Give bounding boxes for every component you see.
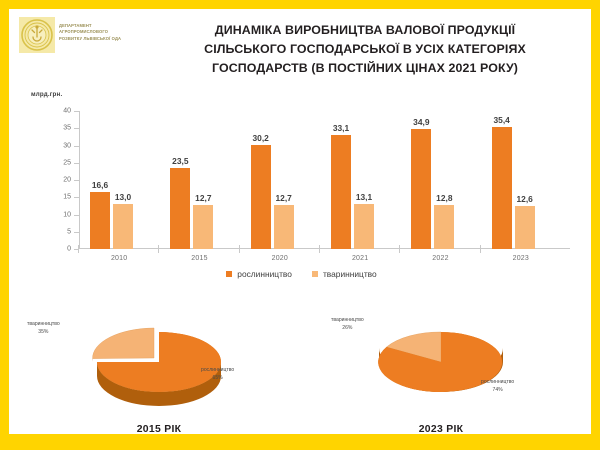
bar-value-label: 12,7 xyxy=(195,193,211,203)
bar-group-2015: 23,512,72015 xyxy=(159,111,239,249)
pie-chart-2023: тваринництво 26% рослинництво 74% 2023 Р… xyxy=(301,305,581,435)
pie-2015-graphic xyxy=(19,305,299,417)
bar-2020-roslynnytstvo[interactable]: 30,2 xyxy=(251,145,271,249)
pie-2023-label-roslynnytstvo-value: 74% xyxy=(481,387,514,395)
y-tick-label: 30 xyxy=(49,142,76,149)
bar-2022-tvarynnytstvo[interactable]: 12,8 xyxy=(434,205,454,249)
bar-2023-tvarynnytstvo[interactable]: 12,6 xyxy=(515,206,535,249)
pie-chart-2015: тваринництво 35% рослинництво 65% 2015 Р… xyxy=(19,305,299,435)
bar-2015-tvarynnytstvo[interactable]: 12,7 xyxy=(193,205,213,249)
organization-logo: ДЕПАРТАМЕНТ АГРОПРОМИСЛОВОГО РОЗВИТКУ ЛЬ… xyxy=(19,15,147,57)
bar-value-label: 30,2 xyxy=(253,133,269,143)
bar-value-label: 13,0 xyxy=(115,192,131,202)
bar-chart-legend: рослинництвотваринництво xyxy=(29,269,574,279)
x-axis-label-2021: 2021 xyxy=(320,255,400,262)
bar-2023-roslynnytstvo[interactable]: 35,4 xyxy=(492,127,512,249)
title-line-3: ГОСПОДАРСТВ (В ПОСТІЙНИХ ЦІНАХ 2021 РОКУ… xyxy=(147,59,583,78)
bar-group-2021: 33,113,12021 xyxy=(320,111,400,249)
y-tick-label: 25 xyxy=(49,159,76,166)
logo-line-3: РОЗВИТКУ ЛЬВІВСЬКОЇ ОДА xyxy=(59,36,149,42)
x-axis-label-2022: 2022 xyxy=(400,255,480,262)
pie-2015-title: 2015 РІК xyxy=(19,424,299,435)
bar-value-label: 35,4 xyxy=(494,115,510,125)
bar-chart-plot-area: 0510152025303540 16,613,0201023,512,7201… xyxy=(79,111,561,249)
y-tick-label: 5 xyxy=(49,228,76,235)
bar-chart: 0510152025303540 16,613,0201023,512,7201… xyxy=(29,105,574,285)
bar-group-2010: 16,613,02010 xyxy=(79,111,159,249)
bar-2022-roslynnytstvo[interactable]: 34,9 xyxy=(411,129,431,249)
x-axis-label-2015: 2015 xyxy=(159,255,239,262)
pie-2023-label-roslynnytstvo-name: рослинництво xyxy=(481,379,514,387)
page-title: ДИНАМІКА ВИРОБНИЦТВА ВАЛОВОЇ ПРОДУКЦІЇ С… xyxy=(147,21,583,78)
bar-value-label: 23,5 xyxy=(172,156,188,166)
bar-group-2023: 35,412,62023 xyxy=(481,111,561,249)
bar-2021-roslynnytstvo[interactable]: 33,1 xyxy=(331,135,351,249)
pie-2023-title: 2023 РІК xyxy=(301,424,581,435)
bar-group-2022: 34,912,82022 xyxy=(400,111,480,249)
pie-2023-label-tvarynnytstvo-value: 26% xyxy=(331,325,364,333)
bar-value-label: 13,1 xyxy=(356,192,372,202)
bar-2021-tvarynnytstvo[interactable]: 13,1 xyxy=(354,204,374,249)
x-tick-mark xyxy=(78,245,79,253)
legend-item-tvarynnytstvo[interactable]: тваринництво xyxy=(312,269,377,279)
x-tick-mark xyxy=(239,245,240,253)
pie-2023-label-tvarynnytstvo: тваринництво 26% xyxy=(331,317,364,332)
x-tick-mark xyxy=(399,245,400,253)
bar-value-label: 12,8 xyxy=(436,193,452,203)
bar-value-label: 34,9 xyxy=(413,117,429,127)
slide-canvas: ДЕПАРТАМЕНТ АГРОПРОМИСЛОВОГО РОЗВИТКУ ЛЬ… xyxy=(9,9,591,434)
logo-text-block: ДЕПАРТАМЕНТ АГРОПРОМИСЛОВОГО РОЗВИТКУ ЛЬ… xyxy=(59,23,149,42)
bar-2015-roslynnytstvo[interactable]: 23,5 xyxy=(170,168,190,249)
y-tick-label: 15 xyxy=(49,194,76,201)
pie-2015-label-tvarynnytstvo: тваринництво 35% xyxy=(27,321,60,336)
slide-frame: ДЕПАРТАМЕНТ АГРОПРОМИСЛОВОГО РОЗВИТКУ ЛЬ… xyxy=(0,0,600,450)
legend-label: тваринництво xyxy=(323,269,377,279)
bar-value-label: 16,6 xyxy=(92,180,108,190)
legend-swatch-icon xyxy=(226,271,232,277)
x-tick-mark xyxy=(319,245,320,253)
pie-2015-label-tvarynnytstvo-value: 35% xyxy=(27,329,60,337)
pie-2023-label-tvarynnytstvo-name: тваринництво xyxy=(331,317,364,325)
x-tick-mark xyxy=(480,245,481,253)
pie-2023-label-roslynnytstvo: рослинництво 74% xyxy=(481,379,514,394)
legend-item-roslynnytstvo[interactable]: рослинництво xyxy=(226,269,292,279)
y-tick-label: 35 xyxy=(49,125,76,132)
x-tick-mark xyxy=(158,245,159,253)
legend-label: рослинництво xyxy=(237,269,292,279)
title-line-2: СІЛЬСЬКОГО ГОСПОДАРСЬКОЇ В УСІХ КАТЕГОРІ… xyxy=(147,40,583,59)
pie-2015-label-roslynnytstvo-name: рослинництво xyxy=(201,367,234,375)
bar-value-label: 12,7 xyxy=(276,193,292,203)
bar-2010-roslynnytstvo[interactable]: 16,6 xyxy=(90,192,110,249)
x-axis-label-2023: 2023 xyxy=(481,255,561,262)
title-line-1: ДИНАМІКА ВИРОБНИЦТВА ВАЛОВОЇ ПРОДУКЦІЇ xyxy=(147,21,583,40)
y-tick-label: 20 xyxy=(49,177,76,184)
y-axis-unit-label: млрд.грн. xyxy=(31,91,62,98)
bar-value-label: 12,6 xyxy=(517,194,533,204)
y-tick-label: 0 xyxy=(49,246,76,253)
y-tick-label: 40 xyxy=(49,108,76,115)
pie-2015-label-roslynnytstvo: рослинництво 65% xyxy=(201,367,234,382)
pie-2015-label-tvarynnytstvo-name: тваринництво xyxy=(27,321,60,329)
legend-swatch-icon xyxy=(312,271,318,277)
x-axis-label-2020: 2020 xyxy=(240,255,320,262)
bar-2010-tvarynnytstvo[interactable]: 13,0 xyxy=(113,204,133,249)
bar-value-label: 33,1 xyxy=(333,123,349,133)
emblem-icon xyxy=(19,17,55,53)
pie-2015-label-roslynnytstvo-value: 65% xyxy=(201,375,234,383)
x-axis-label-2010: 2010 xyxy=(79,255,159,262)
bar-group-2020: 30,212,72020 xyxy=(240,111,320,249)
bar-2020-tvarynnytstvo[interactable]: 12,7 xyxy=(274,205,294,249)
y-tick-label: 10 xyxy=(49,211,76,218)
